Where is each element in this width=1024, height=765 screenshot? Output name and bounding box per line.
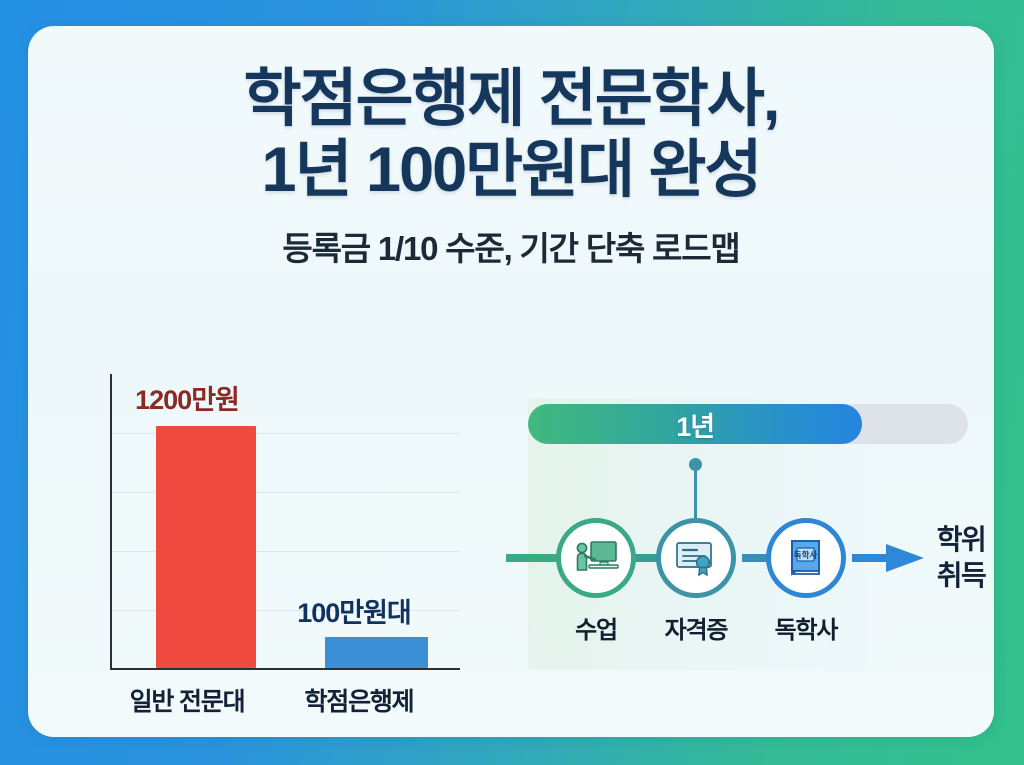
roadmap-step-3[interactable]: 독학사 (766, 518, 846, 598)
certificate-icon (674, 539, 718, 577)
page-title-line-1: 학점은행제 전문학사, (28, 64, 994, 135)
duration-progress-label: 1년 (676, 405, 714, 444)
roadmap-step-1[interactable] (556, 518, 636, 598)
duration-progress-track: 1년 (528, 404, 968, 444)
roadmap-outcome: 학위 취득 (906, 522, 994, 594)
tuition-comparison-bar-chart: 1200만원 100만원대 일반 전문대 학점은행제 (70, 348, 470, 728)
roadmap-stem-dot (689, 458, 702, 471)
roadmap-step-label-2: 자격증 (641, 610, 751, 645)
bar-ilban-jeonmundae (156, 426, 256, 668)
book-icon: 독학사 (786, 537, 826, 579)
roadmap-step-2[interactable] (656, 518, 736, 598)
roadmap-stem-line (694, 464, 697, 522)
headline-block: 학점은행제 전문학사, 1년 100만원대 완성 등록금 1/10 수준, 기간… (28, 64, 994, 270)
roadmap-outcome-line-1: 학위 (906, 522, 994, 558)
duration-progress-fill: 1년 (528, 404, 862, 444)
poster-card: 학점은행제 전문학사, 1년 100만원대 완성 등록금 1/10 수준, 기간… (28, 26, 994, 737)
bar-value-label-ilban: 1200만원 (96, 378, 278, 417)
chart-category-label-hakjeom: 학점은행제 (245, 682, 473, 718)
bar-hakjeom-eunhaengje (325, 637, 428, 668)
svg-text:독학사: 독학사 (794, 550, 818, 560)
roadmap-section: 1년 (506, 378, 994, 708)
bar-value-label-hakjeom: 100만원대 (263, 591, 445, 630)
teacher-blackboard-icon (573, 538, 619, 578)
page-subtitle: 등록금 1/10 수준, 기간 단축 로드맵 (28, 222, 994, 270)
roadmap-step-label-1: 수업 (541, 610, 651, 645)
roadmap-outcome-line-2: 취득 (906, 558, 994, 594)
poster-frame: 학점은행제 전문학사, 1년 100만원대 완성 등록금 1/10 수준, 기간… (0, 0, 1024, 765)
chart-x-axis (110, 668, 460, 670)
roadmap-step-label-3: 독학사 (751, 610, 861, 645)
page-title-line-2: 1년 100만원대 완성 (28, 135, 994, 206)
